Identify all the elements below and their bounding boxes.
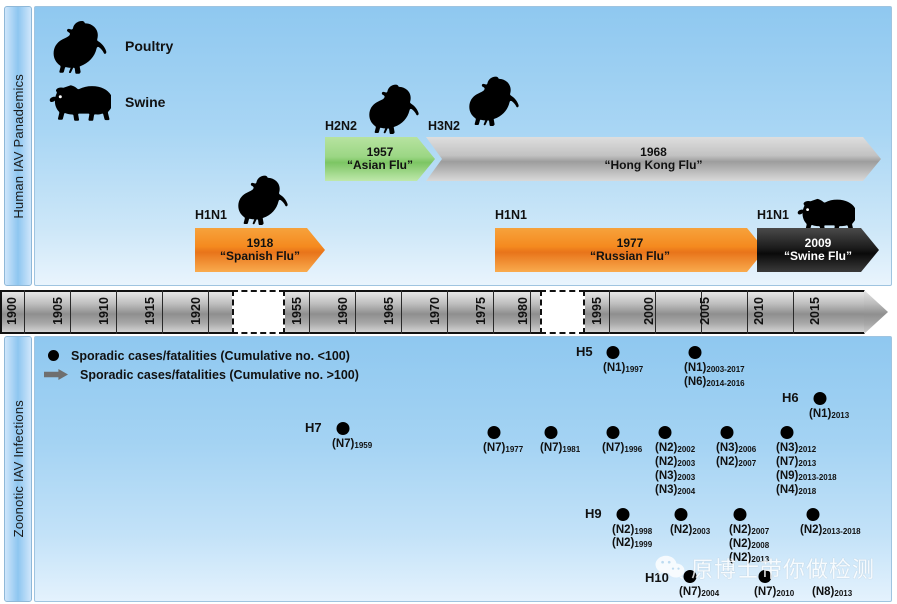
zdot-h7-2012 <box>781 426 794 439</box>
zann-h7-2007: (N2)2007 <box>716 456 756 469</box>
timeline-year-1910: 1910 <box>97 297 111 325</box>
axis-label-human-pandemics-text: Human IAV Panademics <box>11 74 26 219</box>
zoonotic-legend-row-dot: Sporadic cases/fatalities (Cumulative no… <box>44 346 359 365</box>
zann-h7-2002: (N2)2002 <box>655 442 695 455</box>
axis-label-zoonotic-infections: Zoonotic IAV Infections <box>4 336 32 602</box>
zdot-h10-2010 <box>759 570 772 583</box>
chicken-silhouette-icon-h1n1-1918 <box>234 170 292 228</box>
timeline-year-1955: 1955 <box>290 297 304 325</box>
pandemic-year-1968: 1968 <box>605 146 703 159</box>
pandemic-name-1918: “Spanish Flu” <box>220 250 300 263</box>
zdot-h7-1981 <box>545 426 558 439</box>
zdot-h6-2013 <box>814 392 827 405</box>
zann-h5-1997: (N1)1997 <box>603 362 643 375</box>
zann-h5-2014: (N6)2014-2016 <box>684 376 745 389</box>
pandemic-name-1957: “Asian Flu” <box>347 159 413 172</box>
timeline-year-1965: 1965 <box>382 297 396 325</box>
zann-h7-2004: (N3)2004 <box>655 484 695 497</box>
timeline-year-1975: 1975 <box>474 297 488 325</box>
timeline-year-2005: 2005 <box>698 297 712 325</box>
axis-label-human-pandemics: Human IAV Panademics <box>4 6 32 286</box>
zdot-h9-2007 <box>734 508 747 521</box>
timeline-segment-1955-1980 <box>285 290 540 334</box>
pig-silhouette-icon <box>49 79 111 125</box>
timeline-year-1980: 1980 <box>516 297 530 325</box>
zoonotic-legend-dot-label: Sporadic cases/fatalities (Cumulative no… <box>71 349 350 363</box>
zann-h10-2004: (N7)2004 <box>679 586 719 599</box>
pandemic-year-1977: 1977 <box>590 237 670 250</box>
timeline-year-1970: 1970 <box>428 297 442 325</box>
hrow-label-h9: H9 <box>585 506 602 521</box>
zann-h9-2013-2018: (N2)2013-2018 <box>800 524 861 537</box>
zdot-h9-2003 <box>675 508 688 521</box>
timeline-year-1995: 1995 <box>590 297 604 325</box>
zann-h7-2013: (N7)2013 <box>776 456 816 469</box>
timeline-year-1905: 1905 <box>51 297 65 325</box>
zdot-h5-1997 <box>607 346 620 359</box>
host-legend-swine: Swine <box>49 79 165 125</box>
zann-h9-2008: (N2)2008 <box>729 538 769 551</box>
zann-h9-2003: (N2)2003 <box>670 524 710 537</box>
pandemic-subtype-h1n1-2009: H1N1 <box>757 208 789 222</box>
timeline-year-1920: 1920 <box>189 297 203 325</box>
chicken-silhouette-icon-h2n2 <box>365 79 423 137</box>
axis-label-zoonotic-infections-text: Zoonotic IAV Infections <box>11 400 26 537</box>
pandemic-name-2009: “Swine Flu” <box>784 250 852 263</box>
timeline-break-1 <box>232 290 285 334</box>
zann-h7-n9: (N9)2013-2018 <box>776 470 837 483</box>
timeline-year-2010: 2010 <box>752 297 766 325</box>
timeline-year-1960: 1960 <box>336 297 350 325</box>
timeline-year-1900: 1900 <box>5 297 19 325</box>
pandemic-year-1957: 1957 <box>347 146 413 159</box>
zdot-h10-2004 <box>684 570 697 583</box>
pandemic-arrow-1957: 1957 “Asian Flu” <box>325 137 435 181</box>
pandemic-subtype-h3n2: H3N2 <box>428 119 460 133</box>
zann-h7-2003b: (N3)2003 <box>655 470 695 483</box>
timeline-arrowhead <box>864 290 888 334</box>
pandemic-year-1918: 1918 <box>220 237 300 250</box>
zann-h6-2013: (N1)2013 <box>809 408 849 421</box>
pandemic-arrow-1977: 1977 “Russian Flu” <box>495 228 765 272</box>
zdot-h9-1998 <box>617 508 630 521</box>
zdot-h7-1959 <box>337 422 350 435</box>
pandemic-year-2009: 2009 <box>784 237 852 250</box>
hrow-label-h7: H7 <box>305 420 322 435</box>
zann-h5-2003: (N1)2003-2017 <box>684 362 745 375</box>
pandemic-arrow-2009: 2009 “Swine Flu” <box>757 228 879 272</box>
pandemic-subtype-h1n1-1918: H1N1 <box>195 208 227 222</box>
host-legend-poultry-label: Poultry <box>125 38 173 54</box>
zann-h9-2007: (N2)2007 <box>729 524 769 537</box>
pandemic-arrow-1968: 1968 “Hong Kong Flu” <box>426 137 881 181</box>
zdot-h9-2013-2018 <box>807 508 820 521</box>
timeline-break-2 <box>540 290 585 334</box>
sporadic-arrow-icon <box>44 369 68 380</box>
zann-h10-2013: (N8)2013 <box>812 586 852 599</box>
pandemic-name-1968: “Hong Kong Flu” <box>605 159 703 172</box>
zann-h10-2010: (N7)2010 <box>754 586 794 599</box>
zann-h7-1996: (N7)1996 <box>602 442 642 455</box>
pandemic-subtype-h2n2: H2N2 <box>325 119 357 133</box>
zdot-h7-1996 <box>607 426 620 439</box>
zdot-h7-2006 <box>721 426 734 439</box>
hrow-label-h6: H6 <box>782 390 799 405</box>
pandemic-arrow-1918: 1918 “Spanish Flu” <box>195 228 325 272</box>
zann-h9-1998: (N2)1998 <box>612 524 652 537</box>
zann-h7-1977: (N7)1977 <box>483 442 523 455</box>
hrow-label-h10: H10 <box>645 570 669 585</box>
host-legend-poultry: Poultry <box>49 15 173 77</box>
figure-root: Human IAV Panademics Zoonotic IAV Infect… <box>0 0 897 604</box>
sporadic-dot-icon <box>48 350 59 361</box>
zann-h7-1959: (N7)1959 <box>332 438 372 451</box>
pandemic-subtype-h1n1-1977: H1N1 <box>495 208 527 222</box>
zdot-h7-2002 <box>659 426 672 439</box>
zann-h9-1999: (N2)1999 <box>612 537 652 550</box>
zann-h9-2013: (N2)2013 <box>729 552 769 565</box>
chicken-silhouette-icon-h3n2 <box>465 71 523 129</box>
zoonotic-legend-row-arrow: Sporadic cases/fatalities (Cumulative no… <box>44 365 359 384</box>
panel-human-pandemics: Poultry Swine H2N2 1957 “Asian Flu” H3N2 <box>34 6 892 286</box>
timeline-year-2000: 2000 <box>642 297 656 325</box>
timeline-year-1915: 1915 <box>143 297 157 325</box>
zann-h7-2018: (N4)2018 <box>776 484 816 497</box>
zdot-h7-1977 <box>488 426 501 439</box>
chicken-silhouette-icon <box>49 15 111 77</box>
zann-h7-1981: (N7)1981 <box>540 442 580 455</box>
pandemic-name-1977: “Russian Flu” <box>590 250 670 263</box>
zdot-h5-2003 <box>689 346 702 359</box>
zann-h7-2006: (N3)2006 <box>716 442 756 455</box>
host-legend-swine-label: Swine <box>125 94 165 110</box>
zann-h7-2012: (N3)2012 <box>776 442 816 455</box>
timeline-segment-1995-2015 <box>585 290 865 334</box>
timeline-year-2015: 2015 <box>808 297 822 325</box>
hrow-label-h5: H5 <box>576 344 593 359</box>
zann-h7-2003a: (N2)2003 <box>655 456 695 469</box>
zoonotic-legend: Sporadic cases/fatalities (Cumulative no… <box>44 346 359 384</box>
zoonotic-legend-arrow-label: Sporadic cases/fatalities (Cumulative no… <box>80 368 359 382</box>
timeline-axis: 1900 1905 1910 1915 1920 1955 1960 1965 … <box>0 290 890 334</box>
